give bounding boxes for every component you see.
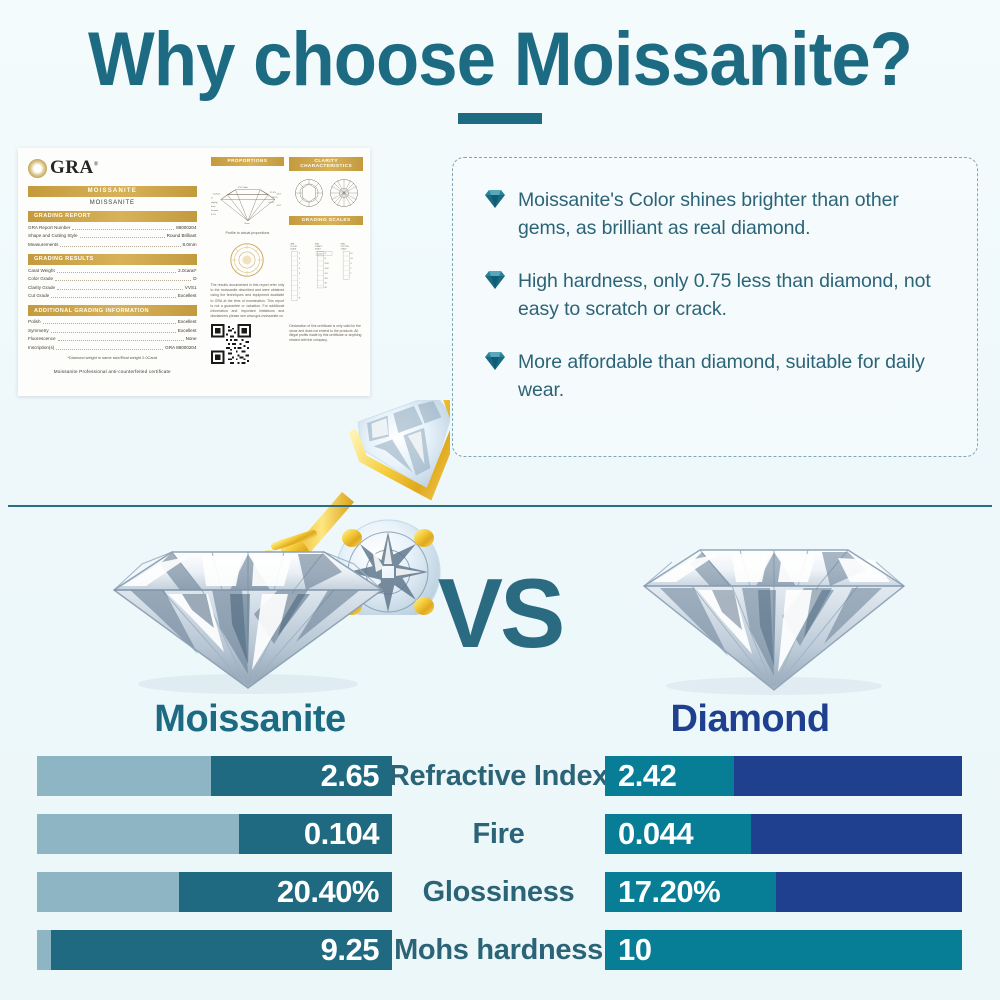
gra-brand: GRA [50,157,94,178]
moissanite-bar-track: 2.65 [37,756,392,796]
diamond-bar-fill: 0.044 [605,814,751,854]
svg-text:SCALE: SCALE [315,247,322,250]
proportions-caption: Profile to actual proportions [211,231,285,235]
svg-text:medium: medium [212,194,220,196]
svg-text:34.5°: 34.5° [276,194,281,196]
diamond-bar-fill: 17.20% [605,872,776,912]
dot-leader [58,340,184,341]
cert-row: Color Grade D [28,276,197,282]
svg-text:SI1: SI1 [325,283,327,285]
cert-row: Carat Weight 2.0carat* [28,268,197,274]
svg-text:J: J [299,283,300,285]
svg-text:SI2: SI2 [325,287,327,289]
diamond-value: 10 [618,932,651,968]
cert-row: GRA Report Number 88000204 [28,225,197,231]
svg-text:F: F [351,268,352,270]
svg-text:G: G [299,268,301,270]
benefit-item: More affordable than diamond, suitable f… [483,348,951,404]
svg-text:EX: EX [351,253,354,255]
moissanite-bar-track: 20.40% [37,872,392,912]
svg-text:VVS2: VVS2 [325,268,329,270]
benefit-text: More affordable than diamond, suitable f… [518,348,951,404]
svg-text:43.0%: 43.0% [271,197,277,199]
proportions-heading: PROPORTIONS [211,157,285,166]
benefits-panel: Moissanite's Color shines brighter than … [452,157,978,457]
cert-row: Measurements 8.0mm [28,242,197,248]
left-gem-name: Moissanite [0,698,500,740]
svg-text:K: K [299,288,301,290]
diamond-value: 0.044 [618,816,693,852]
gra-logo: GRA® [28,157,197,179]
moissanite-bar-track: 9.25 [37,930,392,970]
page-title: Why choose Moissanite? [35,18,965,102]
svg-text:SCALE: SCALE [341,247,348,250]
comparison-bar-chart: 2.65 Refractive Index 2.42 0.104 Fire 0.… [0,748,1000,980]
svg-text:COLOR: COLOR [290,246,297,248]
cert-subtitle: MOISSANITE [28,200,197,206]
title-underline [458,113,542,124]
gra-seal-icon [28,159,47,178]
svg-text:55% Table: 55% Table [238,187,249,189]
additional-info-heading: ADDITIONAL GRADING INFORMATION [28,305,197,316]
svg-text:E: E [299,258,300,260]
svg-text:SCALE: SCALE [290,247,297,250]
dot-leader [57,272,176,273]
qr-code-icon [211,324,251,364]
moissanite-bar-fill: 2.65 [211,756,392,796]
svg-text:GRA: GRA [341,242,346,245]
bar-row-mohs-hardness: 9.25 Mohs hardness 10 [0,922,1000,980]
dot-leader [72,229,174,230]
svg-text:VS1: VS1 [325,273,328,275]
dot-leader [57,289,183,290]
moissanite-bar-fill: 0.104 [239,814,392,854]
svg-text:to: to [211,197,214,200]
svg-text:GRA: GRA [290,242,295,245]
moissanite-value: 0.104 [304,816,379,852]
diamond-gem-icon [483,351,507,371]
registered-mark: ® [94,162,99,168]
svg-text:None: None [244,223,250,225]
svg-text:VS2: VS2 [325,278,328,280]
cert-row: Symmetry Excellent [28,328,197,334]
benefit-item: Moissanite's Color shines brighter than … [483,186,951,242]
dot-leader [80,237,165,238]
diamond-value: 2.42 [618,758,676,794]
cert-row: Fluorescence None [28,336,197,342]
svg-text:61.5%: 61.5% [268,202,274,204]
benefit-text: High hardness, only 0.75 less than diamo… [518,267,951,323]
cert-row: Cut Grade Excellent [28,293,197,299]
infographic-page: Why choose Moissanite? GRA® MOISSANITE M… [0,0,1000,1000]
svg-text:IF: IF [325,258,326,260]
clarity-diagrams [289,175,363,208]
bar-category-label: Mohs hardness [392,930,605,970]
moissanite-value: 9.25 [321,932,379,968]
bar-category-label: Fire [392,814,605,854]
cert-row: Inscription(s) GRA 88000204 [28,345,197,351]
gra-certificate-image: GRA® MOISSANITE MOISSANITE GRADING REPOR… [18,148,370,396]
moissanite-value: 2.65 [321,758,379,794]
bar-row-glossiness: 20.40% Glossiness 17.20% [0,864,1000,922]
diamond-gem-photo [628,524,920,700]
svg-text:VVS1: VVS1 [325,263,329,265]
svg-text:CUTTING: CUTTING [341,246,350,248]
diamond-value: 17.20% [618,874,720,910]
bar-row-fire: 0.104 Fire 0.044 [0,806,1000,864]
svg-text:M: M [299,297,301,299]
moissanite-bar-fill: 9.25 [51,930,392,970]
cert-row: Shape and Cutting Style Round Brilliant [28,233,197,239]
diamond-bar-track: 2.42 [605,756,962,796]
cert-disclaimer: The results documented in this report re… [211,283,285,319]
grading-scales-diagram: GRACOLORSCALE GRACLARITYSCALE GRACUTTING… [289,229,363,320]
cert-bottom-disclaimer: Declaration of this certificate is only … [289,324,363,342]
cert-row: Polish Excellent [28,319,197,325]
bar-category-label: Refractive Index [392,756,605,796]
diamond-bar-fill: 2.42 [605,756,734,796]
diamond-bar-fill: 10 [605,930,962,970]
svg-text:L: L [299,293,300,295]
svg-text:15.5%: 15.5% [270,192,276,194]
asterisk-note: *Diamond weight in same size/Real weight… [28,355,197,361]
svg-text:VG: VG [351,258,354,260]
dot-leader [51,332,176,333]
diamond-bar-track: 10 [605,930,962,970]
benefit-item: High hardness, only 0.75 less than diamo… [483,267,951,323]
grading-scales-heading: GRADING SCALES [289,216,363,225]
bar-row-refractive-index: 2.65 Refractive Index 2.42 [0,748,1000,806]
grading-results-heading: GRADING RESULTS [28,254,197,265]
diamond-gem-icon [483,189,507,209]
svg-text:I: I [299,278,300,280]
moissanite-bar-fill: 20.40% [179,872,392,912]
diamond-gem-icon [483,270,507,290]
dot-leader [56,349,163,350]
dot-leader [51,297,176,298]
svg-text:Colorless: Colorless [318,253,324,255]
moissanite-value: 20.40% [277,874,379,910]
dot-leader [43,323,176,324]
moissanite-bar-track: 0.104 [37,814,392,854]
diamond-bar-track: 17.20% [605,872,962,912]
dot-leader [60,246,180,247]
cert-banner-title: MOISSANITE [28,186,197,197]
diamond-bar-track: 0.044 [605,814,962,854]
gra-gold-seal-icon [229,242,265,278]
svg-text:H: H [299,273,301,275]
proportions-diagram: 55% Table medium to slightly thick facet… [211,175,285,229]
clarity-heading: CLARITY CHARACTERISTICS [289,157,363,171]
cert-row: Clarity Grade VVS1 [28,285,197,291]
bar-category-label: Glossiness [392,872,605,912]
svg-text:41.0°: 41.0° [276,205,281,207]
svg-text:thick: thick [211,205,216,208]
svg-text:slightly: slightly [211,201,218,204]
svg-text:CLARITY: CLARITY [315,245,324,248]
svg-text:4.5%: 4.5% [211,214,216,216]
svg-text:F: F [299,263,300,265]
dot-leader [55,280,191,281]
svg-text:D: D [299,253,301,255]
svg-text:G: G [351,263,353,265]
right-gem-name: Diamond [500,698,1000,740]
svg-text:P: P [351,273,352,275]
svg-text:FL: FL [325,253,327,255]
cert-footer-note: Moissanite Professional anti-counterfeit… [28,369,197,374]
section-divider [8,505,992,507]
benefit-text: Moissanite's Color shines brighter than … [518,186,951,242]
svg-text:GRA: GRA [315,242,320,245]
grading-report-heading: GRADING REPORT [28,211,197,222]
svg-text:faceted: faceted [211,209,219,212]
